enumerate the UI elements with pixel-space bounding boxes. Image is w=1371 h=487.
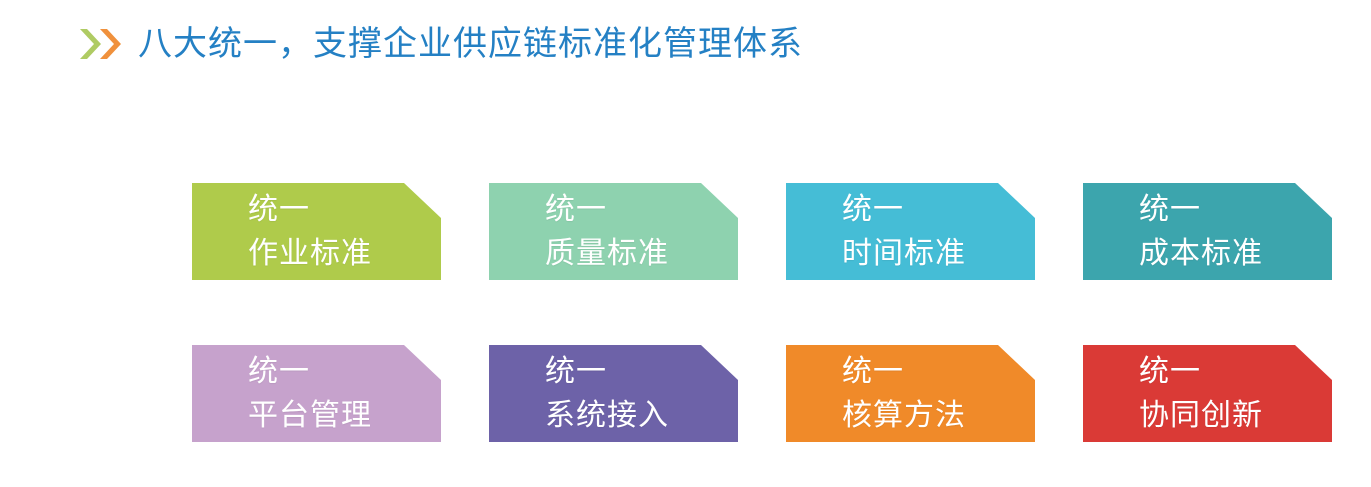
card-line-secondary: 时间标准 [842, 232, 1035, 276]
card-line-secondary: 协同创新 [1139, 394, 1332, 438]
slide-canvas: 八大统一，支撑企业供应链标准化管理体系 统一 作业标准 统一 质量标准 统一 时… [0, 0, 1371, 487]
card-unified-time-standard[interactable]: 统一 时间标准 [786, 183, 1035, 280]
card-line-primary: 统一 [545, 350, 738, 394]
card-line-primary: 统一 [842, 350, 1035, 394]
card-unified-accounting-method[interactable]: 统一 核算方法 [786, 345, 1035, 442]
card-line-secondary: 核算方法 [842, 394, 1035, 438]
card-line-secondary: 成本标准 [1139, 232, 1332, 276]
card-line-secondary: 平台管理 [248, 394, 441, 438]
card-line-primary: 统一 [248, 188, 441, 232]
card-line-primary: 统一 [842, 188, 1035, 232]
card-line-secondary: 作业标准 [248, 232, 441, 276]
card-unified-operation-standard[interactable]: 统一 作业标准 [192, 183, 441, 280]
slide-header: 八大统一，支撑企业供应链标准化管理体系 [78, 18, 803, 70]
card-unified-quality-standard[interactable]: 统一 质量标准 [489, 183, 738, 280]
card-unified-system-access[interactable]: 统一 系统接入 [489, 345, 738, 442]
page-title: 八大统一，支撑企业供应链标准化管理体系 [138, 27, 803, 61]
card-line-primary: 统一 [248, 350, 441, 394]
card-unified-collaborative-innovation[interactable]: 统一 协同创新 [1083, 345, 1332, 442]
double-chevron-right-icon [78, 26, 124, 62]
card-line-primary: 统一 [1139, 350, 1332, 394]
card-unified-cost-standard[interactable]: 统一 成本标准 [1083, 183, 1332, 280]
card-line-secondary: 系统接入 [545, 394, 738, 438]
unified-standards-card-grid: 统一 作业标准 统一 质量标准 统一 时间标准 统一 成本标准 统一 平台管理 … [192, 183, 1332, 442]
card-line-primary: 统一 [1139, 188, 1332, 232]
card-line-secondary: 质量标准 [545, 232, 738, 276]
card-unified-platform-management[interactable]: 统一 平台管理 [192, 345, 441, 442]
card-line-primary: 统一 [545, 188, 738, 232]
